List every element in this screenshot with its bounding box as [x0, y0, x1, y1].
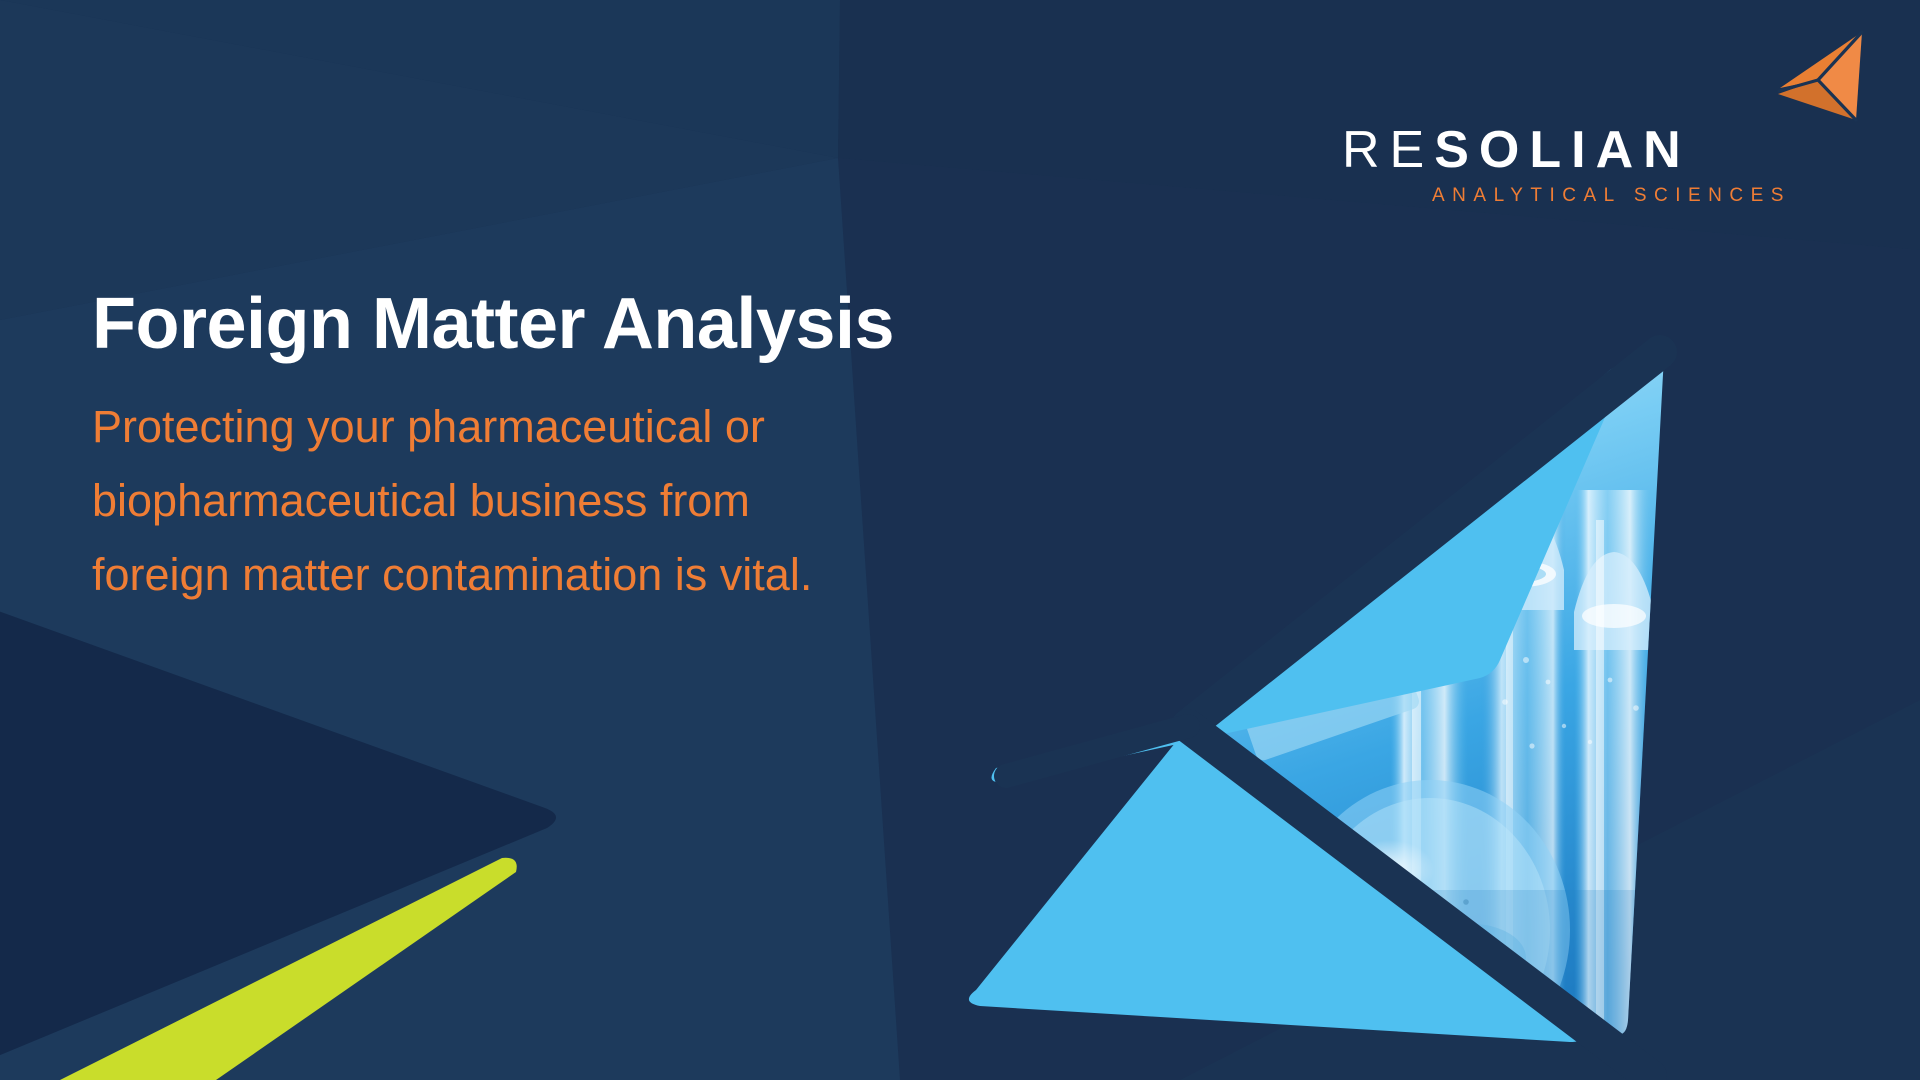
resolian-dart-mark-icon	[1774, 28, 1870, 126]
subhead-line-1: Protecting your pharmaceutical or	[92, 390, 1212, 464]
bottom-left-decoration	[0, 560, 620, 1080]
wordmark-bold-part: SOLIAN	[1434, 121, 1690, 179]
subhead-line-2: biopharmaceutical business from	[92, 464, 1212, 538]
hero-banner: RESOLIAN ANALYTICAL SCIENCES Foreign Mat…	[0, 0, 1920, 1080]
hero-subhead: Protecting your pharmaceutical or biopha…	[92, 362, 1212, 612]
logo-tagline: ANALYTICAL SCIENCES	[1432, 186, 1791, 205]
resolian-wordmark: RESOLIAN	[1342, 124, 1691, 176]
wordmark-light-part: RE	[1342, 121, 1434, 179]
subhead-line-3: foreign matter contamination is vital.	[92, 538, 1212, 612]
resolian-logo[interactable]: RESOLIAN ANALYTICAL SCIENCES	[1332, 28, 1884, 188]
page-title: Foreign Matter Analysis	[92, 286, 1212, 362]
hero-copy: Foreign Matter Analysis Protecting your …	[92, 286, 1212, 612]
